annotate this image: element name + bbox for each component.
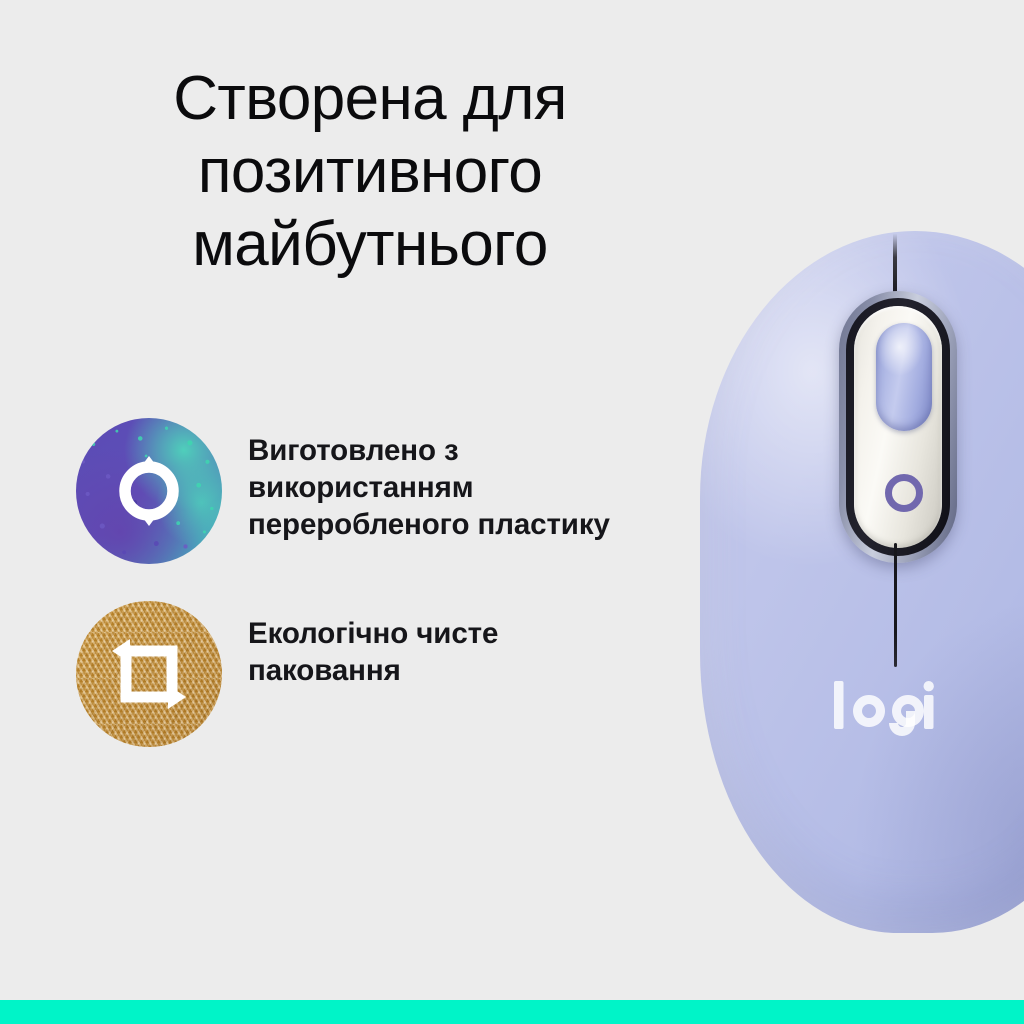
list-item-label: Екологічно чисте паковання (222, 601, 716, 689)
list-item: Екологічно чисте паковання (76, 601, 716, 747)
mode-ring-button (885, 474, 923, 512)
accent-bar (0, 1000, 1024, 1024)
feature-list: Виготовлено з використанням переробленог… (76, 418, 716, 784)
control-pill-face (854, 306, 942, 548)
banner-canvas: Створена для позитивного майбутнього (0, 0, 1024, 1024)
list-item: Виготовлено з використанням переробленог… (76, 418, 716, 564)
recycled-plastic-icon (76, 418, 222, 564)
control-pill-bezel (846, 298, 950, 556)
button-seam-top (893, 233, 897, 297)
page-title: Створена для позитивного майбутнього (0, 62, 740, 281)
control-pill (839, 291, 957, 563)
logi-wordmark (832, 681, 960, 743)
scroll-wheel (876, 323, 932, 431)
product-image-mouse (700, 231, 1024, 933)
list-item-label: Виготовлено з використанням переробленог… (222, 418, 716, 543)
button-seam-bottom (894, 543, 897, 667)
eco-packaging-icon (76, 601, 222, 747)
